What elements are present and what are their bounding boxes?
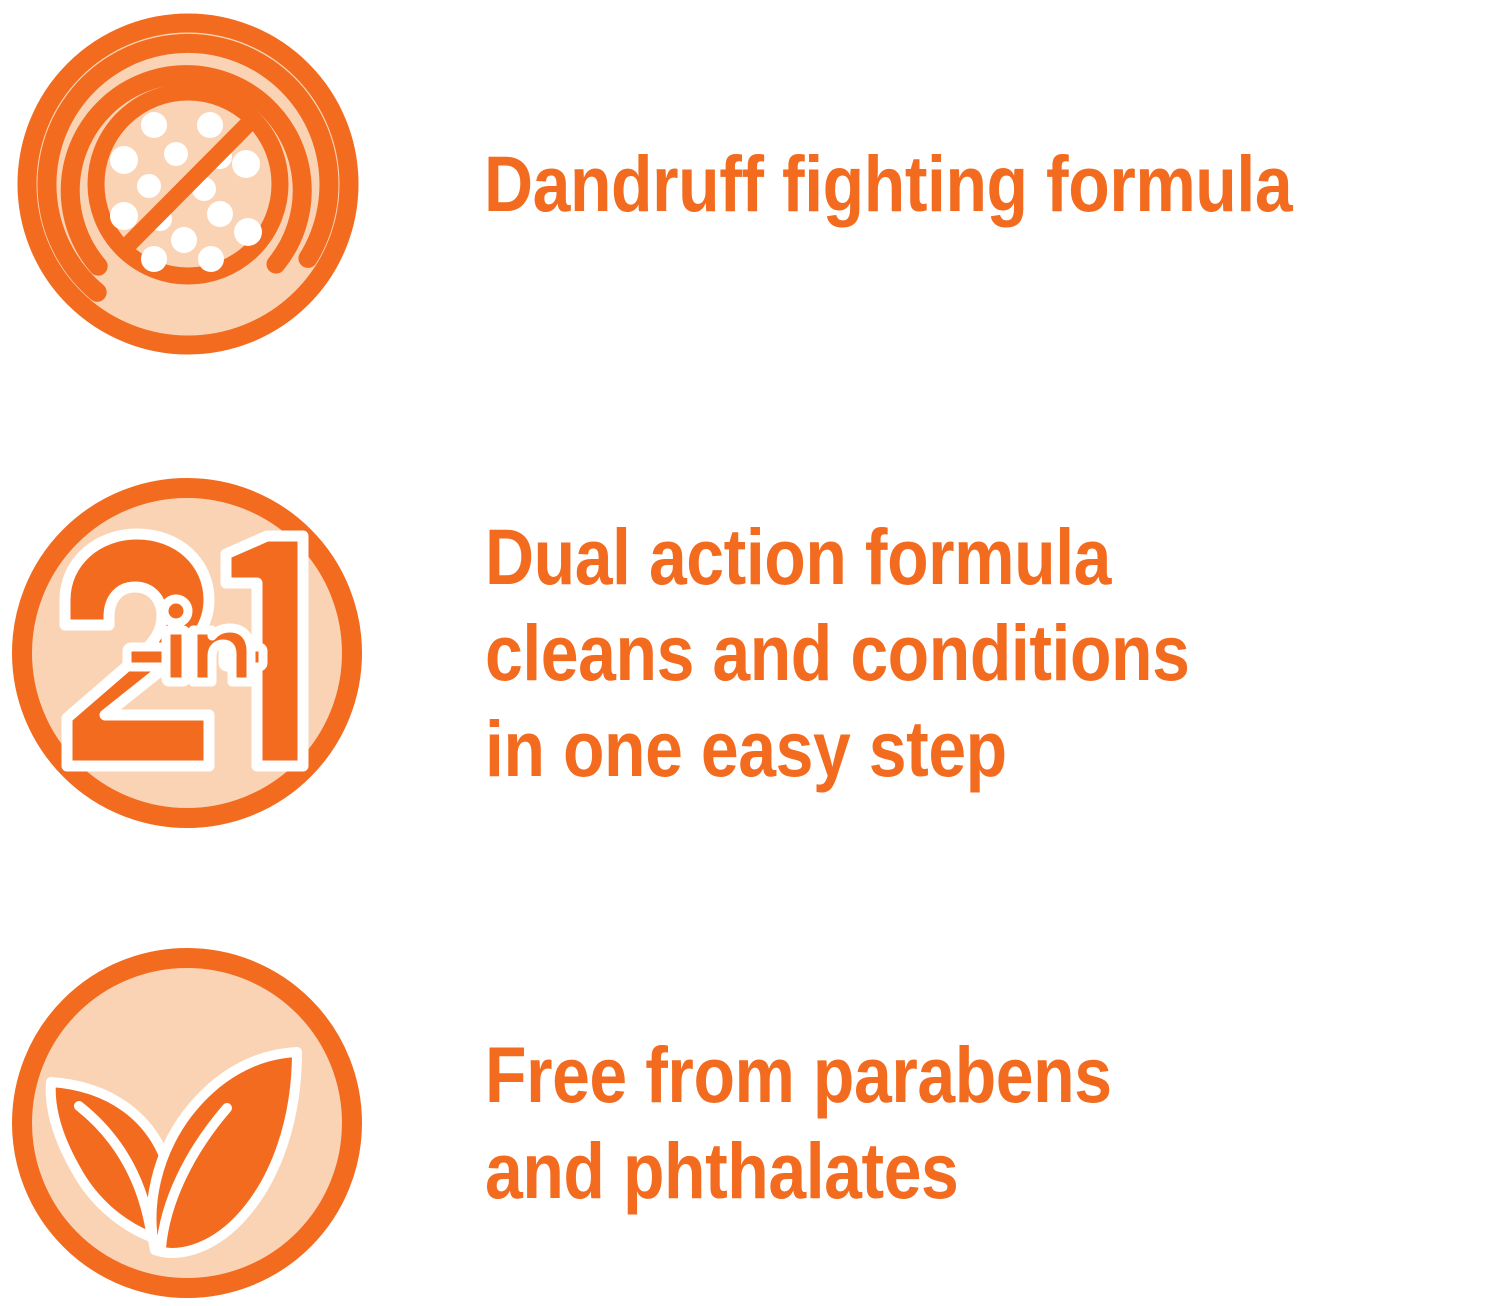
feature-row-dual-action: Dual action formula cleans and condition…: [1, 470, 1304, 836]
benefits-panel: Dandruff fighting formula: [0, 0, 1500, 1306]
feature-label-dual-action: Dual action formula cleans and condition…: [485, 509, 1189, 797]
feature-label-line: Free from parabens: [485, 1027, 1112, 1123]
feature-label-line: Dual action formula: [485, 509, 1189, 605]
feature-label-line: and phthalates: [485, 1123, 1112, 1219]
two-in-one-icon: [1, 470, 373, 836]
feature-row-dandruff: Dandruff fighting formula: [8, 4, 1424, 364]
feature-row-free-from: Free from parabens and phthalates: [1, 940, 1214, 1306]
feature-label-line: Dandruff fighting formula: [484, 136, 1292, 232]
no-dandruff-flakes-icon: [8, 4, 368, 364]
feature-label-free-from: Free from parabens and phthalates: [485, 1027, 1112, 1219]
feature-label-line: in one easy step: [485, 701, 1189, 797]
leaves-natural-icon: [1, 940, 373, 1306]
feature-label-line: cleans and conditions: [485, 605, 1189, 701]
feature-label-dandruff: Dandruff fighting formula: [484, 136, 1292, 232]
